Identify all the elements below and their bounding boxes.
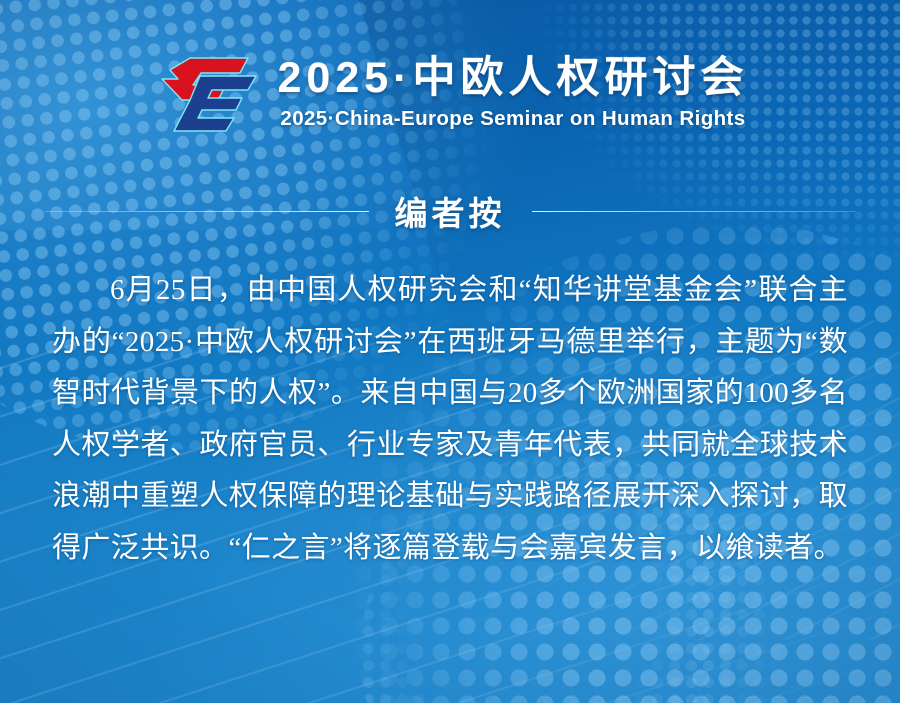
editors-note-body: 6月25日，由中国人权研究会和“知华讲堂基金会”联合主办的“2025·中欧人权研… [52,265,848,575]
seminar-title-chinese: 2025·中欧人权研讨会 [278,55,749,101]
title-group: 2025·中欧人权研讨会 2025·China-Europe Seminar o… [278,55,749,130]
section-heading-row: 编者按 [44,187,856,235]
poster-header: 2025·中欧人权研讨会 2025·China-Europe Seminar o… [0,0,900,134]
ce-monogram-logo-icon [152,52,260,134]
section-heading-label: 编者按 [395,187,506,235]
horizontal-rule-right-icon [532,211,857,212]
poster-canvas: 2025·中欧人权研讨会 2025·China-Europe Seminar o… [0,0,900,703]
seminar-title-english: 2025·China-Europe Seminar on Human Right… [278,107,749,131]
horizontal-rule-left-icon [44,211,369,212]
